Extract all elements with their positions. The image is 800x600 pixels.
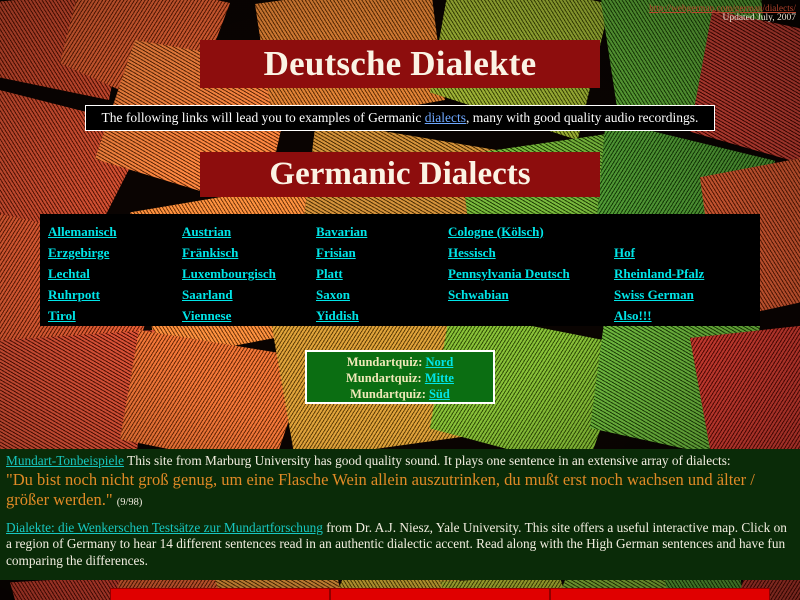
dialect-link-also[interactable]: Also!!! xyxy=(614,308,652,323)
site-url-link[interactable]: http://webgerman.com/german/dialects/ xyxy=(649,3,796,13)
dialect-link-luxembourgisch[interactable]: Luxembourgisch xyxy=(182,266,276,281)
table-cell: Hof xyxy=(606,242,760,263)
quiz-row-nord: Mundartquiz: Nord xyxy=(307,354,493,370)
table-cell: Pennsylvania Deutsch xyxy=(440,263,606,284)
descriptions-panel: Mundart-Tonbeispiele This site from Marb… xyxy=(0,449,800,580)
table-row: Lechtal Luxembourgisch Platt Pennsylvani… xyxy=(40,263,760,284)
quiz-row-mitte: Mundartquiz: Mitte xyxy=(307,370,493,386)
dialects-link[interactable]: dialects xyxy=(425,110,466,125)
intro-text-before: The following links will lead you to exa… xyxy=(102,110,425,125)
table-cell: Platt xyxy=(308,263,440,284)
mundart-tonbeispiele-link[interactable]: Mundart-Tonbeispiele xyxy=(6,453,124,468)
page-title: Deutsche Dialekte xyxy=(200,40,600,88)
dialect-link-erzgebirge[interactable]: Erzgebirge xyxy=(48,245,109,260)
table-cell xyxy=(606,221,760,242)
table-cell: Rheinland-Pfalz xyxy=(606,263,760,284)
table-cell: Ruhrpott xyxy=(40,284,174,305)
dialect-link-ruhrpott[interactable]: Ruhrpott xyxy=(48,287,100,302)
dialect-link-hof[interactable]: Hof xyxy=(614,245,635,260)
dialect-link-saarland[interactable]: Saarland xyxy=(182,287,233,302)
intro-text-after: , many with good quality audio recording… xyxy=(466,110,698,125)
description-item-2: Dialekte: die Wenkerschen Testsätze zur … xyxy=(6,520,794,570)
quiz-link-nord[interactable]: Nord xyxy=(426,355,454,369)
updated-date: Updated July, 2007 xyxy=(649,13,796,24)
table-cell: Fränkisch xyxy=(174,242,308,263)
dialect-link-yiddish[interactable]: Yiddish xyxy=(316,308,359,323)
table-cell: Austrian xyxy=(174,221,308,242)
dialect-link-viennese[interactable]: Viennese xyxy=(182,308,231,323)
quiz-link-sued[interactable]: Süd xyxy=(429,387,450,401)
quiz-label: Mundartquiz: xyxy=(347,355,423,369)
table-cell: Yiddish xyxy=(308,305,440,326)
table-cell: Lechtal xyxy=(40,263,174,284)
table-row: Ruhrpott Saarland Saxon Schwabian Swiss … xyxy=(40,284,760,305)
table-row: Erzgebirge Fränkisch Frisian Hessisch Ho… xyxy=(40,242,760,263)
table-cell: Hessisch xyxy=(440,242,606,263)
dialect-links-panel: Allemanisch Austrian Bavarian Cologne (K… xyxy=(40,214,760,326)
quiz-link-mitte[interactable]: Mitte xyxy=(425,371,454,385)
quote-date-stamp: (9/98) xyxy=(117,497,143,508)
dialect-link-tirol[interactable]: Tirol xyxy=(48,308,76,323)
description-1-text: This site from Marburg University has go… xyxy=(124,453,731,468)
dialect-link-frisian[interactable]: Frisian xyxy=(316,245,356,260)
table-cell: Swiss German xyxy=(606,284,760,305)
table-cell: Tirol xyxy=(40,305,174,326)
table-cell: Bavarian xyxy=(308,221,440,242)
table-cell: Saxon xyxy=(308,284,440,305)
red-table-cell[interactable] xyxy=(110,588,330,600)
quiz-label: Mundartquiz: xyxy=(346,371,422,385)
dialect-link-schwabian[interactable]: Schwabian xyxy=(448,287,509,302)
red-table-cell[interactable] xyxy=(330,588,550,600)
sample-sentence-quote: "Du bist noch nicht groß genug, um eine … xyxy=(6,470,794,513)
dialect-link-platt[interactable]: Platt xyxy=(316,266,343,281)
bottom-red-table xyxy=(110,588,770,600)
section-title: Germanic Dialects xyxy=(200,152,600,197)
table-cell: Saarland xyxy=(174,284,308,305)
dialect-link-fraenkisch[interactable]: Fränkisch xyxy=(182,245,238,260)
quiz-label: Mundartquiz: xyxy=(350,387,426,401)
intro-banner: The following links will lead you to exa… xyxy=(85,105,715,131)
table-cell: Cologne (Kölsch) xyxy=(440,221,606,242)
dialect-link-lechtal[interactable]: Lechtal xyxy=(48,266,90,281)
mundartquiz-panel: Mundartquiz: Nord Mundartquiz: Mitte Mun… xyxy=(305,350,495,404)
table-cell xyxy=(440,305,606,326)
red-table-cell[interactable] xyxy=(550,588,770,600)
table-cell: Luxembourgisch xyxy=(174,263,308,284)
table-cell: Schwabian xyxy=(440,284,606,305)
dialect-links-table: Allemanisch Austrian Bavarian Cologne (K… xyxy=(40,221,760,326)
table-cell: Erzgebirge xyxy=(40,242,174,263)
dialect-link-allemanisch[interactable]: Allemanisch xyxy=(48,224,117,239)
table-cell: Frisian xyxy=(308,242,440,263)
table-row: Tirol Viennese Yiddish Also!!! xyxy=(40,305,760,326)
quiz-row-sued: Mundartquiz: Süd xyxy=(307,386,493,402)
dialect-link-swiss-german[interactable]: Swiss German xyxy=(614,287,694,302)
dialect-link-rheinland-pfalz[interactable]: Rheinland-Pfalz xyxy=(614,266,704,281)
table-cell: Also!!! xyxy=(606,305,760,326)
table-cell: Viennese xyxy=(174,305,308,326)
dialect-link-saxon[interactable]: Saxon xyxy=(316,287,350,302)
dialect-link-cologne[interactable]: Cologne (Kölsch) xyxy=(448,224,544,239)
dialect-link-hessisch[interactable]: Hessisch xyxy=(448,245,496,260)
dialect-link-austrian[interactable]: Austrian xyxy=(182,224,231,239)
wenkerschen-testsaetze-link[interactable]: Dialekte: die Wenkerschen Testsätze zur … xyxy=(6,520,323,535)
dialect-link-bavarian[interactable]: Bavarian xyxy=(316,224,367,239)
table-row: Allemanisch Austrian Bavarian Cologne (K… xyxy=(40,221,760,242)
table-cell: Allemanisch xyxy=(40,221,174,242)
dialect-link-pennsylvania-deutsch[interactable]: Pennsylvania Deutsch xyxy=(448,266,570,281)
header-meta: http://webgerman.com/german/dialects/ Up… xyxy=(649,3,796,24)
description-item-1: Mundart-Tonbeispiele This site from Marb… xyxy=(6,453,794,470)
